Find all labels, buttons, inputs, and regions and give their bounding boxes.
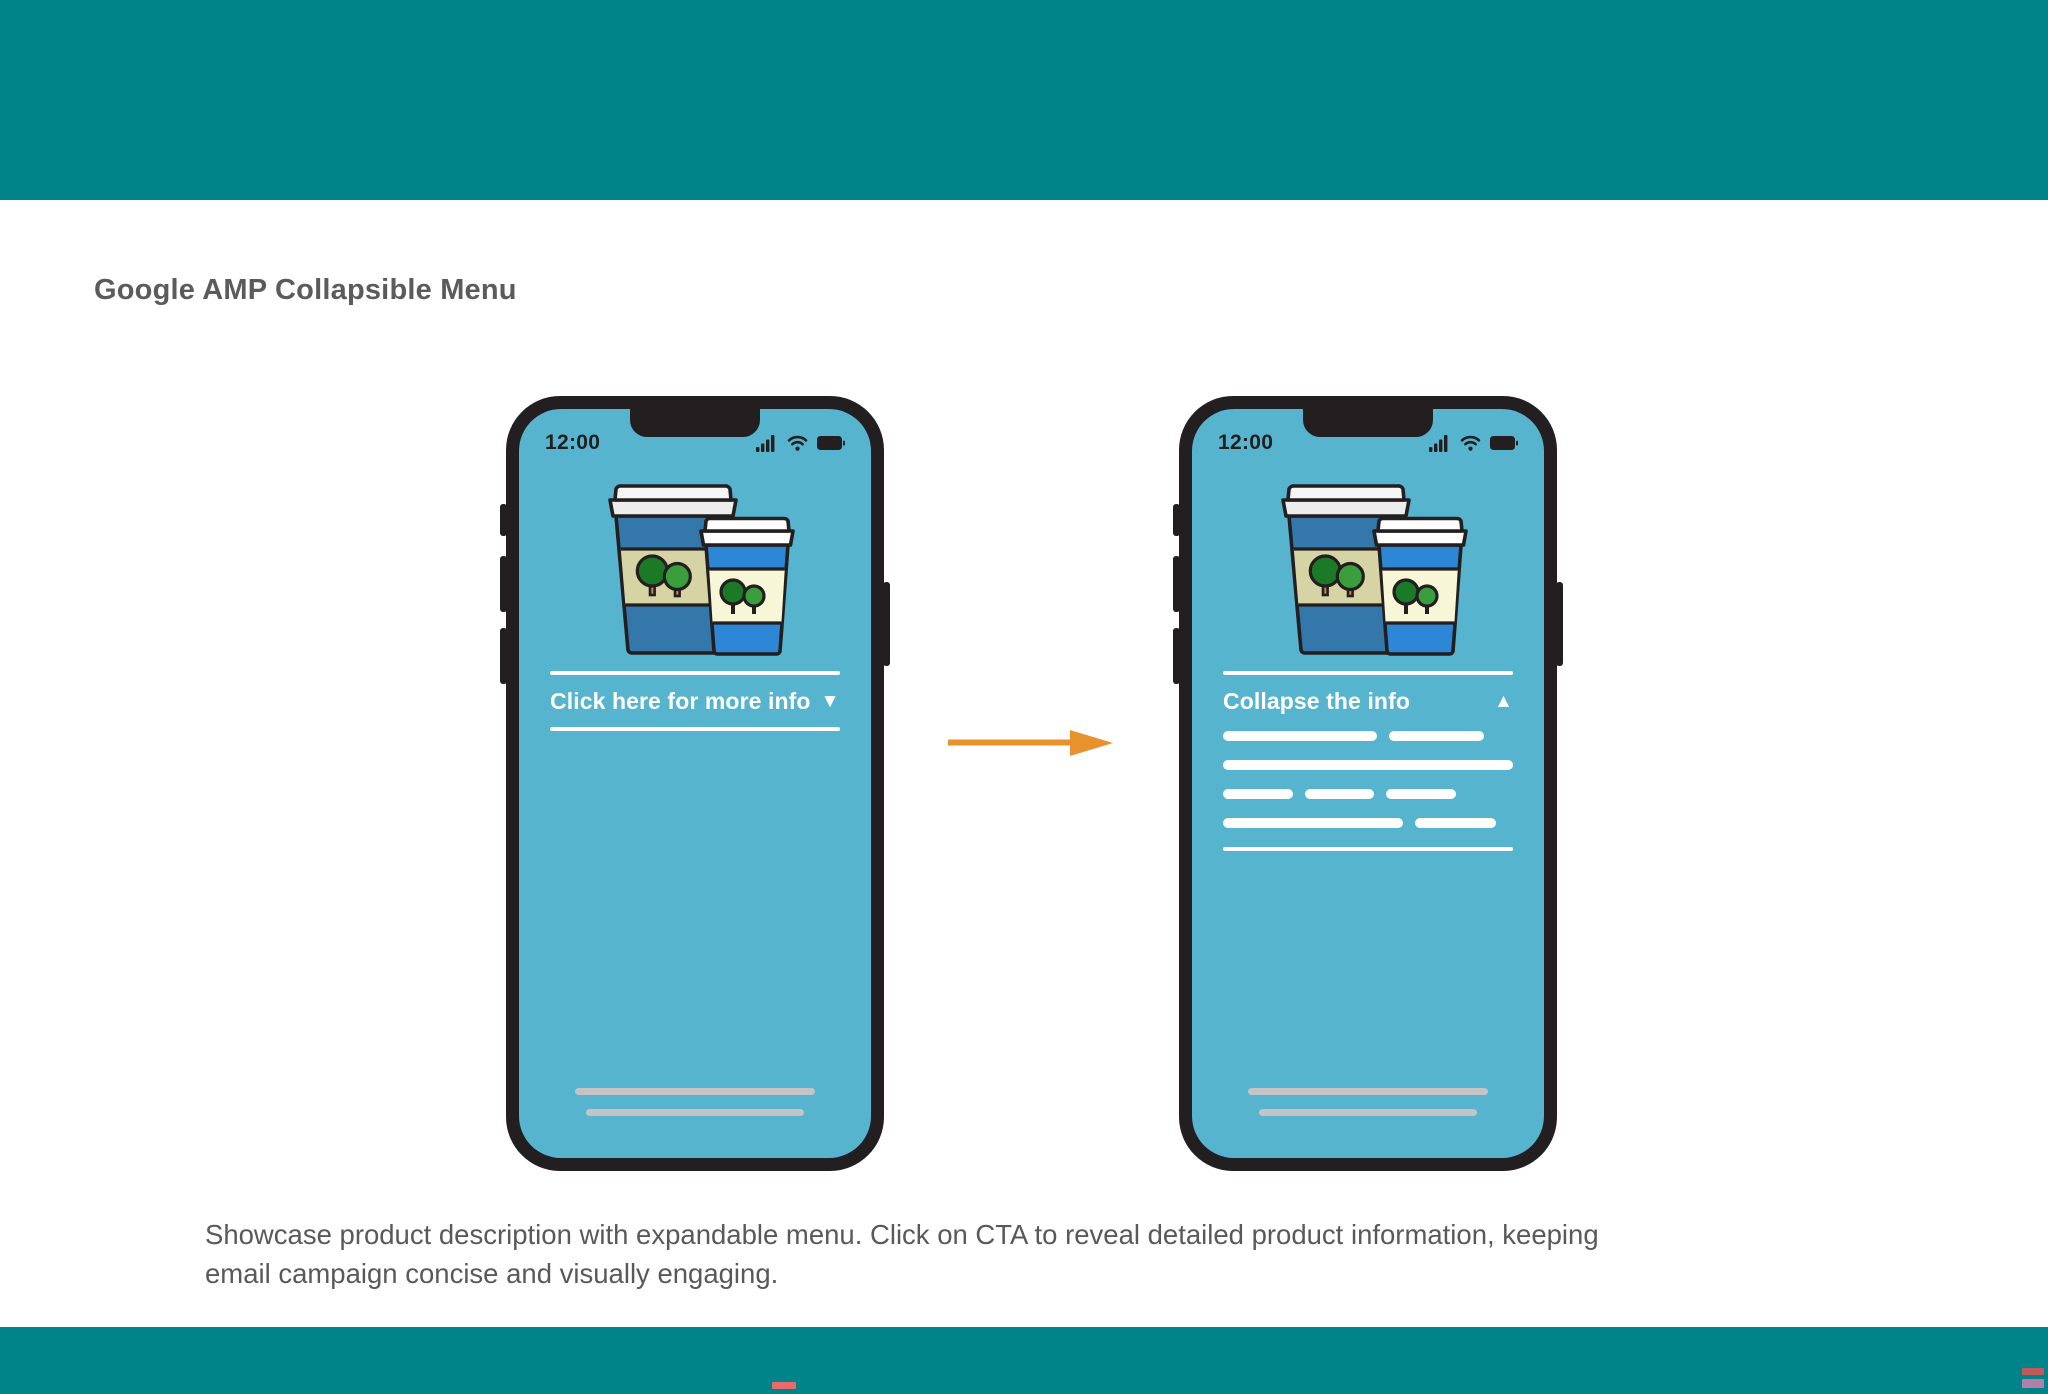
status-bar: 12:00: [519, 431, 871, 455]
power-button[interactable]: [883, 582, 890, 666]
status-time: 12:00: [545, 431, 600, 455]
right-arrow-icon: [948, 728, 1113, 758]
status-icons: [756, 435, 845, 452]
cta-accordion-collapsed[interactable]: Click here for more info ▼: [550, 671, 840, 731]
cta-accordion-expanded[interactable]: Collapse the info ▲: [1223, 671, 1513, 727]
footer-bar: [586, 1109, 804, 1116]
content-bar: [1305, 789, 1375, 799]
content-bar: [1415, 818, 1496, 828]
status-time: 12:00: [1218, 431, 1273, 455]
battery-full-icon: [817, 436, 845, 450]
volume-up-button[interactable]: [1173, 556, 1180, 612]
content-divider: [1223, 847, 1513, 851]
cta-label: Collapse the info: [1223, 688, 1410, 715]
footer-placeholder-bars: [1192, 1088, 1544, 1116]
coffee-cups-illustration: [580, 483, 810, 658]
content-bar: [1223, 760, 1513, 770]
content-bar: [1223, 731, 1377, 741]
power-button[interactable]: [1556, 582, 1563, 666]
cta-rule-bottom: [550, 727, 840, 731]
mute-switch[interactable]: [1173, 504, 1180, 536]
volume-up-button[interactable]: [500, 556, 507, 612]
deco-mark: [2022, 1368, 2044, 1375]
bottom-accent-band: [0, 1327, 2048, 1394]
content-line-row: [1223, 731, 1513, 741]
deco-mark: [2022, 1379, 2044, 1388]
phone-screen: 12:00: [519, 409, 871, 1158]
footer-bar: [1248, 1088, 1487, 1095]
wifi-icon: [1460, 435, 1481, 452]
volume-down-button[interactable]: [1173, 628, 1180, 684]
phone-mockup-expanded: 12:00: [1179, 396, 1557, 1171]
footer-placeholder-bars: [519, 1088, 871, 1116]
volume-down-button[interactable]: [500, 628, 507, 684]
content-line-row: [1223, 760, 1513, 770]
phone-mockup-collapsed: 12:00: [506, 396, 884, 1171]
mute-switch[interactable]: [500, 504, 507, 536]
cta-row[interactable]: Click here for more info ▼: [550, 675, 840, 727]
page-title: Google AMP Collapsible Menu: [94, 274, 517, 307]
chevron-down-icon[interactable]: ▼: [821, 692, 840, 711]
cta-label: Click here for more info: [550, 688, 811, 715]
content-line-row: [1223, 789, 1513, 799]
status-icons: [1429, 435, 1518, 452]
status-bar: 12:00: [1192, 431, 1544, 455]
footer-bar: [1259, 1109, 1477, 1116]
content-bar: [1386, 789, 1456, 799]
deco-mark: [772, 1382, 796, 1389]
footer-bar: [575, 1088, 814, 1095]
chevron-up-icon[interactable]: ▲: [1494, 692, 1513, 711]
content-line-row: [1223, 818, 1513, 828]
cellular-signal-icon: [1429, 435, 1451, 452]
top-accent-band: [0, 0, 2048, 200]
coffee-cups-illustration: [1253, 483, 1483, 658]
slide-canvas: Google AMP Collapsible Menu 12:00: [0, 0, 2048, 1394]
content-bar: [1389, 731, 1485, 741]
content-bar: [1223, 818, 1403, 828]
cellular-signal-icon: [756, 435, 778, 452]
expanded-content-placeholder: [1223, 731, 1513, 851]
phone-screen: 12:00: [1192, 409, 1544, 1158]
battery-full-icon: [1490, 436, 1518, 450]
wifi-icon: [787, 435, 808, 452]
slide-caption: Showcase product description with expand…: [205, 1215, 1605, 1293]
content-bar: [1223, 789, 1293, 799]
cta-row[interactable]: Collapse the info ▲: [1223, 675, 1513, 727]
